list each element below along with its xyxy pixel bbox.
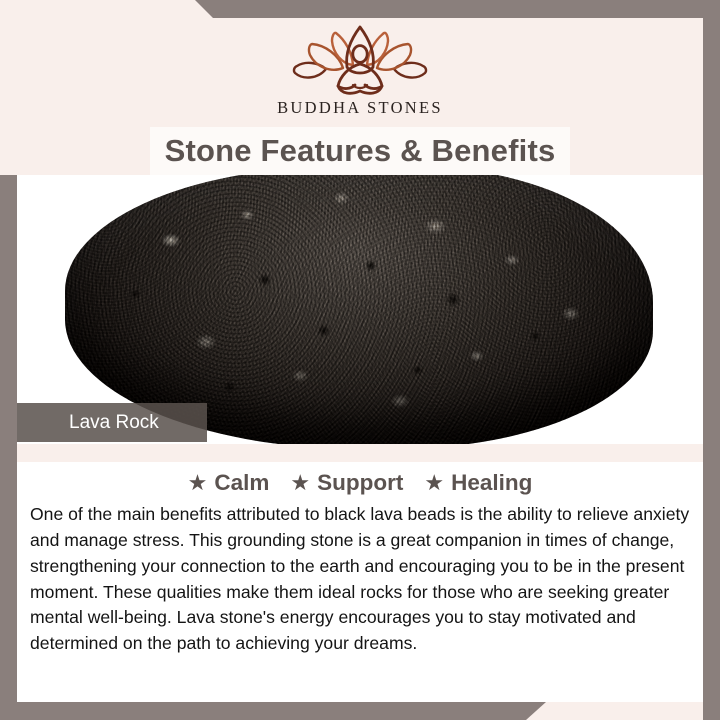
- frame-accent-right: [703, 0, 720, 720]
- benefit-item-calm: ★ Calm: [188, 470, 270, 496]
- stone-name-label: Lava Rock: [17, 412, 159, 434]
- infographic-page: BUDDHA STONES Stone Features & Benefits …: [0, 0, 720, 720]
- stone-name-band: Lava Rock: [17, 403, 207, 442]
- benefits-row: ★ Calm ★ Support ★ Healing: [17, 462, 703, 496]
- frame-accent-left: [0, 175, 17, 720]
- frame-accent-bottom-left: [0, 702, 546, 720]
- stone-photo: Lava Rock: [17, 175, 703, 444]
- star-icon: ★: [290, 472, 310, 494]
- star-icon: ★: [424, 472, 444, 494]
- benefit-item-healing: ★ Healing: [424, 470, 532, 496]
- page-title: Stone Features & Benefits: [165, 133, 556, 169]
- separator-band: [17, 444, 703, 462]
- brand-logo: BUDDHA STONES: [17, 23, 703, 118]
- benefit-label-support: Support: [317, 470, 403, 496]
- benefit-item-support: ★ Support: [290, 470, 403, 496]
- description-text: One of the main benefits attributed to b…: [30, 502, 691, 657]
- lotus-meditation-icon: [285, 23, 435, 97]
- header: BUDDHA STONES Stone Features & Benefits: [17, 18, 703, 175]
- title-banner: Stone Features & Benefits: [150, 127, 570, 175]
- brand-name: BUDDHA STONES: [17, 98, 703, 118]
- star-icon: ★: [188, 472, 208, 494]
- benefits-card: ★ Calm ★ Support ★ Healing One of the ma…: [17, 462, 703, 702]
- frame-accent-top-right: [195, 0, 720, 18]
- benefit-label-healing: Healing: [451, 470, 532, 496]
- benefit-label-calm: Calm: [214, 470, 269, 496]
